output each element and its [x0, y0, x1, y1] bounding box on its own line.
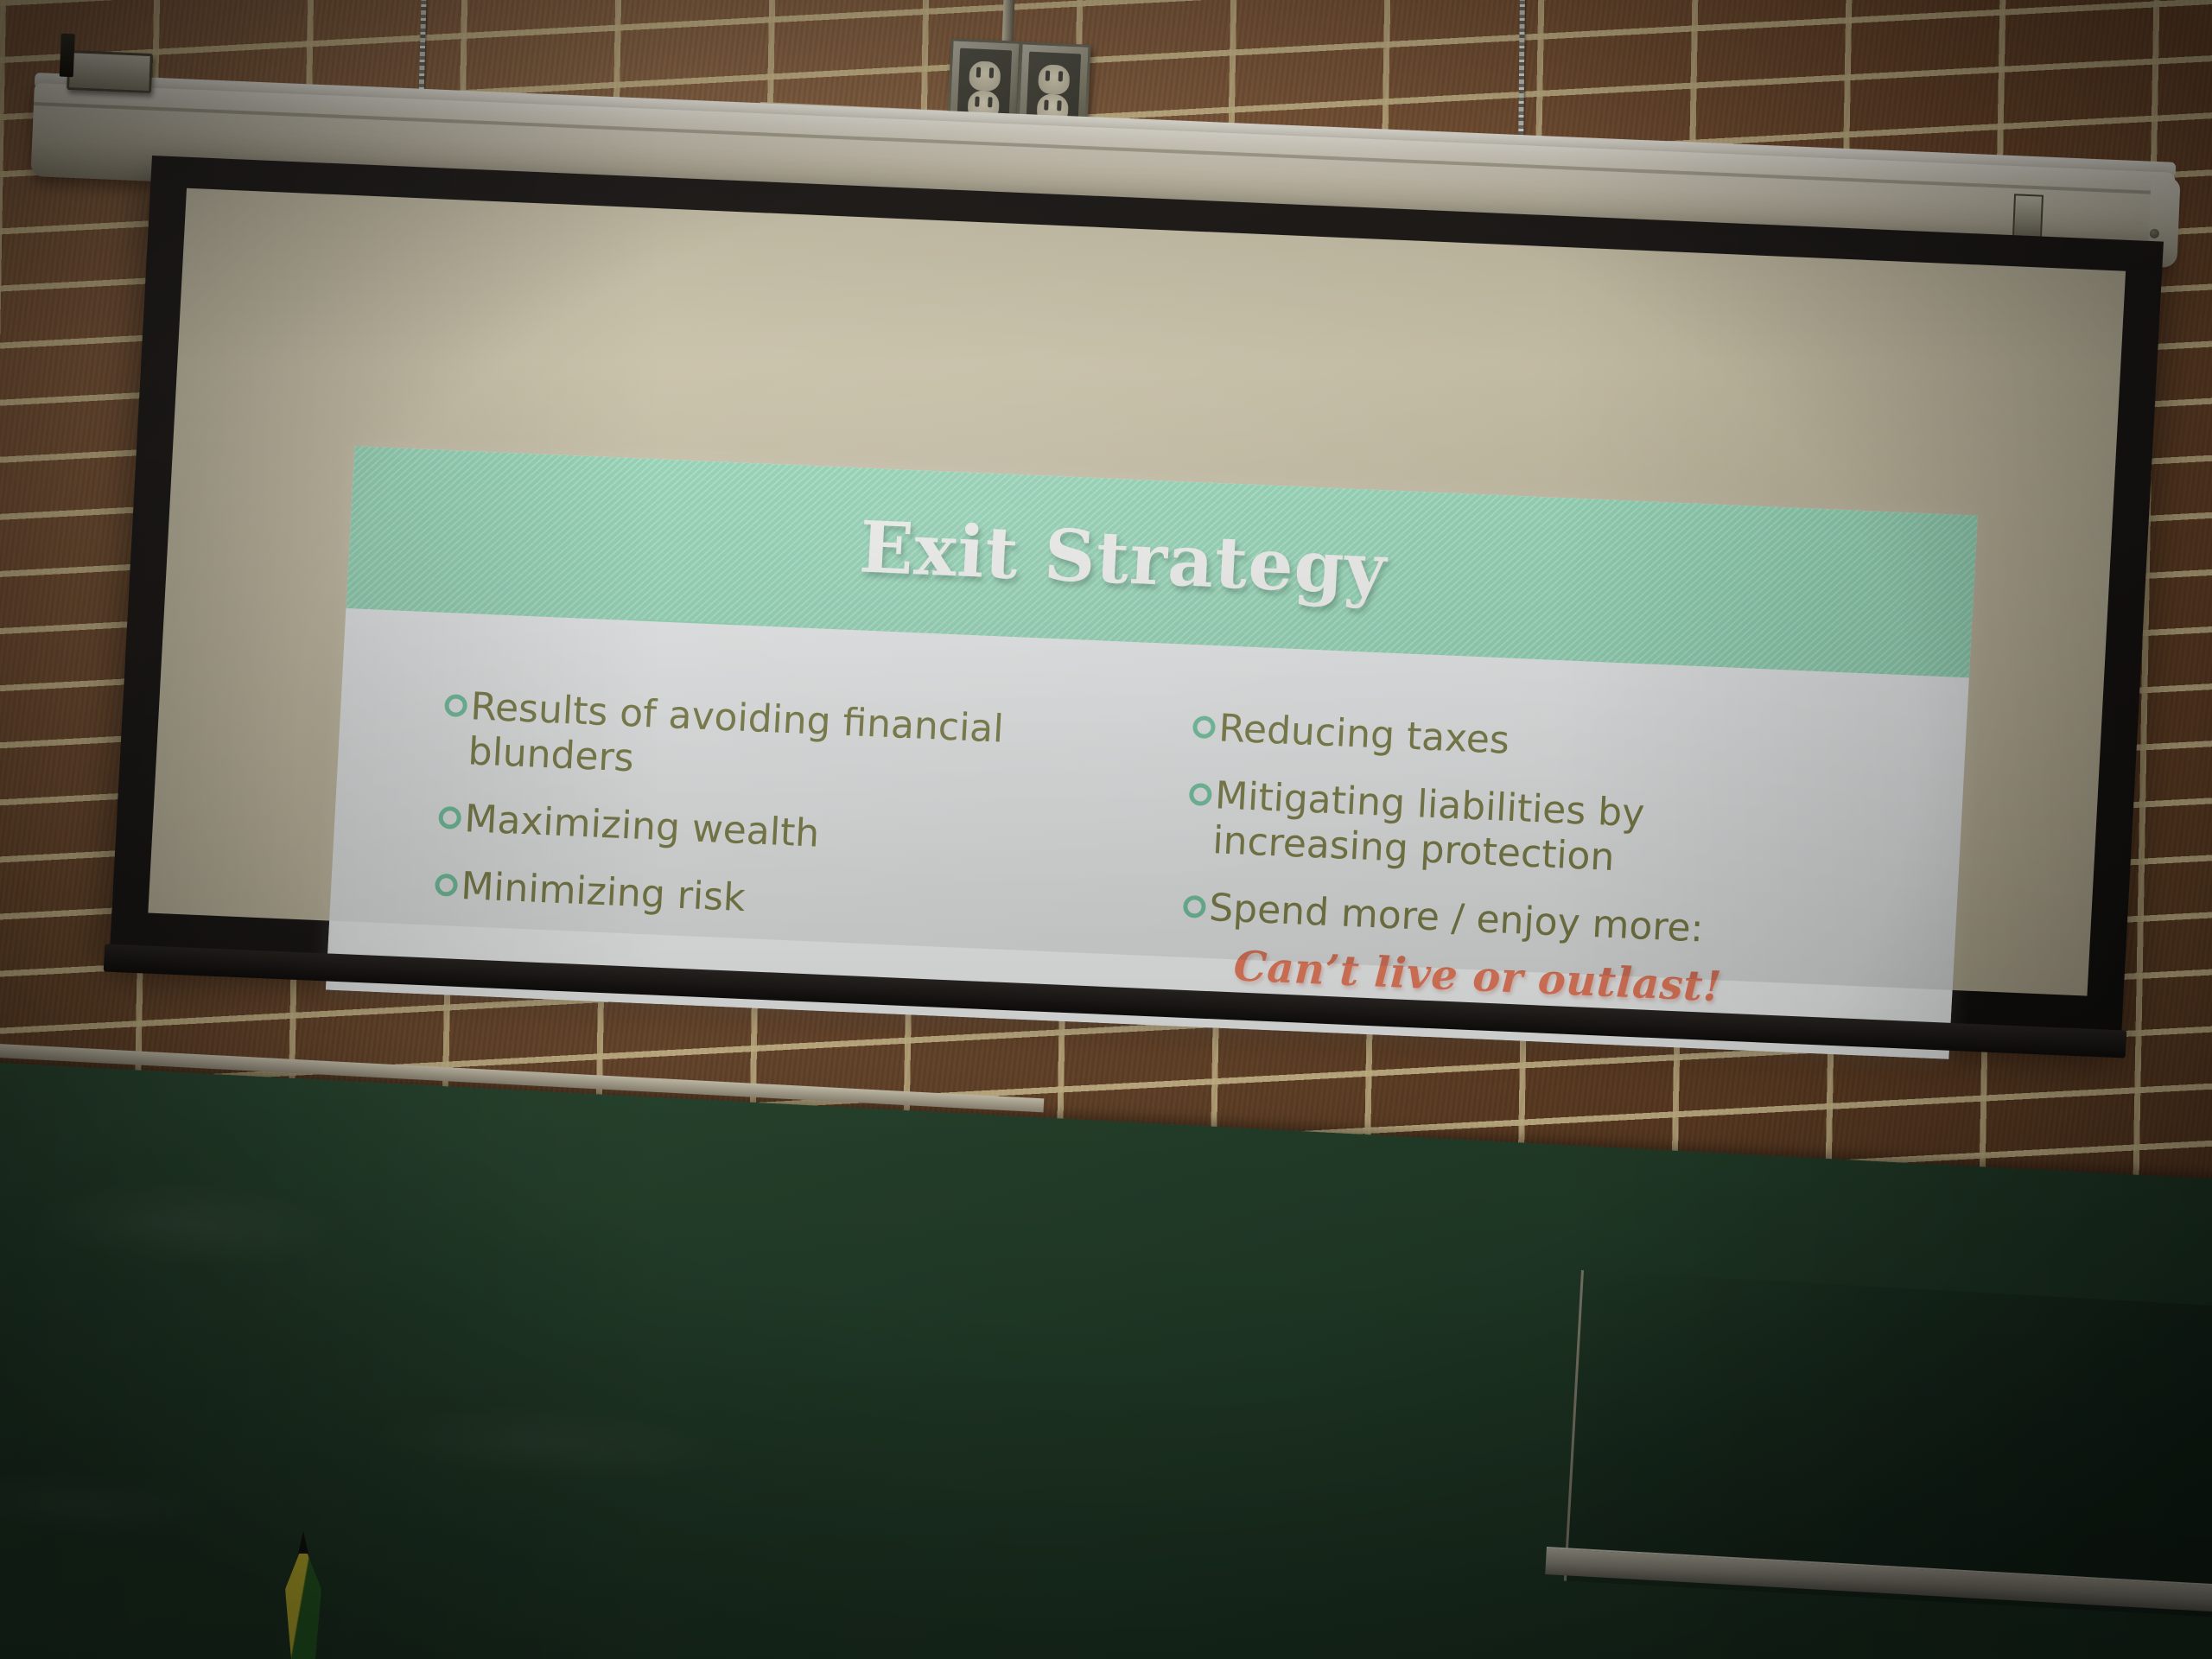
bullet-ring-icon	[444, 694, 467, 717]
bullet-text: Mitigating liabilities by increasing pro…	[1211, 773, 1821, 889]
screen-fabric: Exit Strategy Results of avoiding financ…	[148, 188, 2126, 996]
photo-scene: Exit Strategy Results of avoiding financ…	[0, 0, 2212, 1659]
projector-screen: Exit Strategy Results of avoiding financ…	[110, 156, 2164, 1035]
list-item: Reducing taxes	[1192, 705, 1966, 783]
bullet-text: Maximizing wealth	[463, 797, 820, 856]
mount-post	[60, 34, 75, 78]
list-item: Minimizing risk	[434, 862, 1144, 938]
bullet-ring-icon	[1183, 895, 1206, 918]
bullet-text: Reducing taxes	[1217, 706, 1510, 763]
bullet-ring-icon	[435, 873, 458, 896]
outlet-socket-icon	[969, 60, 1001, 92]
bullet-ring-icon	[1192, 715, 1216, 739]
bullet-text: Spend more / enjoy more:	[1208, 886, 1705, 951]
bullet-text: Results of avoiding financial blunders	[467, 684, 1024, 798]
bullet-text: Minimizing risk	[460, 864, 747, 921]
bullet-ring-icon	[1189, 783, 1212, 806]
list-item: Results of avoiding financial blunders	[441, 683, 1154, 804]
list-item: Maximizing wealth	[437, 796, 1147, 871]
list-item: Mitigating liabilities by increasing pro…	[1185, 772, 1962, 895]
screen-mount-bracket-left	[67, 50, 153, 93]
bullet-ring-icon	[438, 806, 461, 829]
slide-title: Exit Strategy	[348, 484, 1975, 636]
outlet-socket-icon	[1038, 64, 1071, 95]
screen-mount-bracket-right	[2012, 194, 2044, 238]
